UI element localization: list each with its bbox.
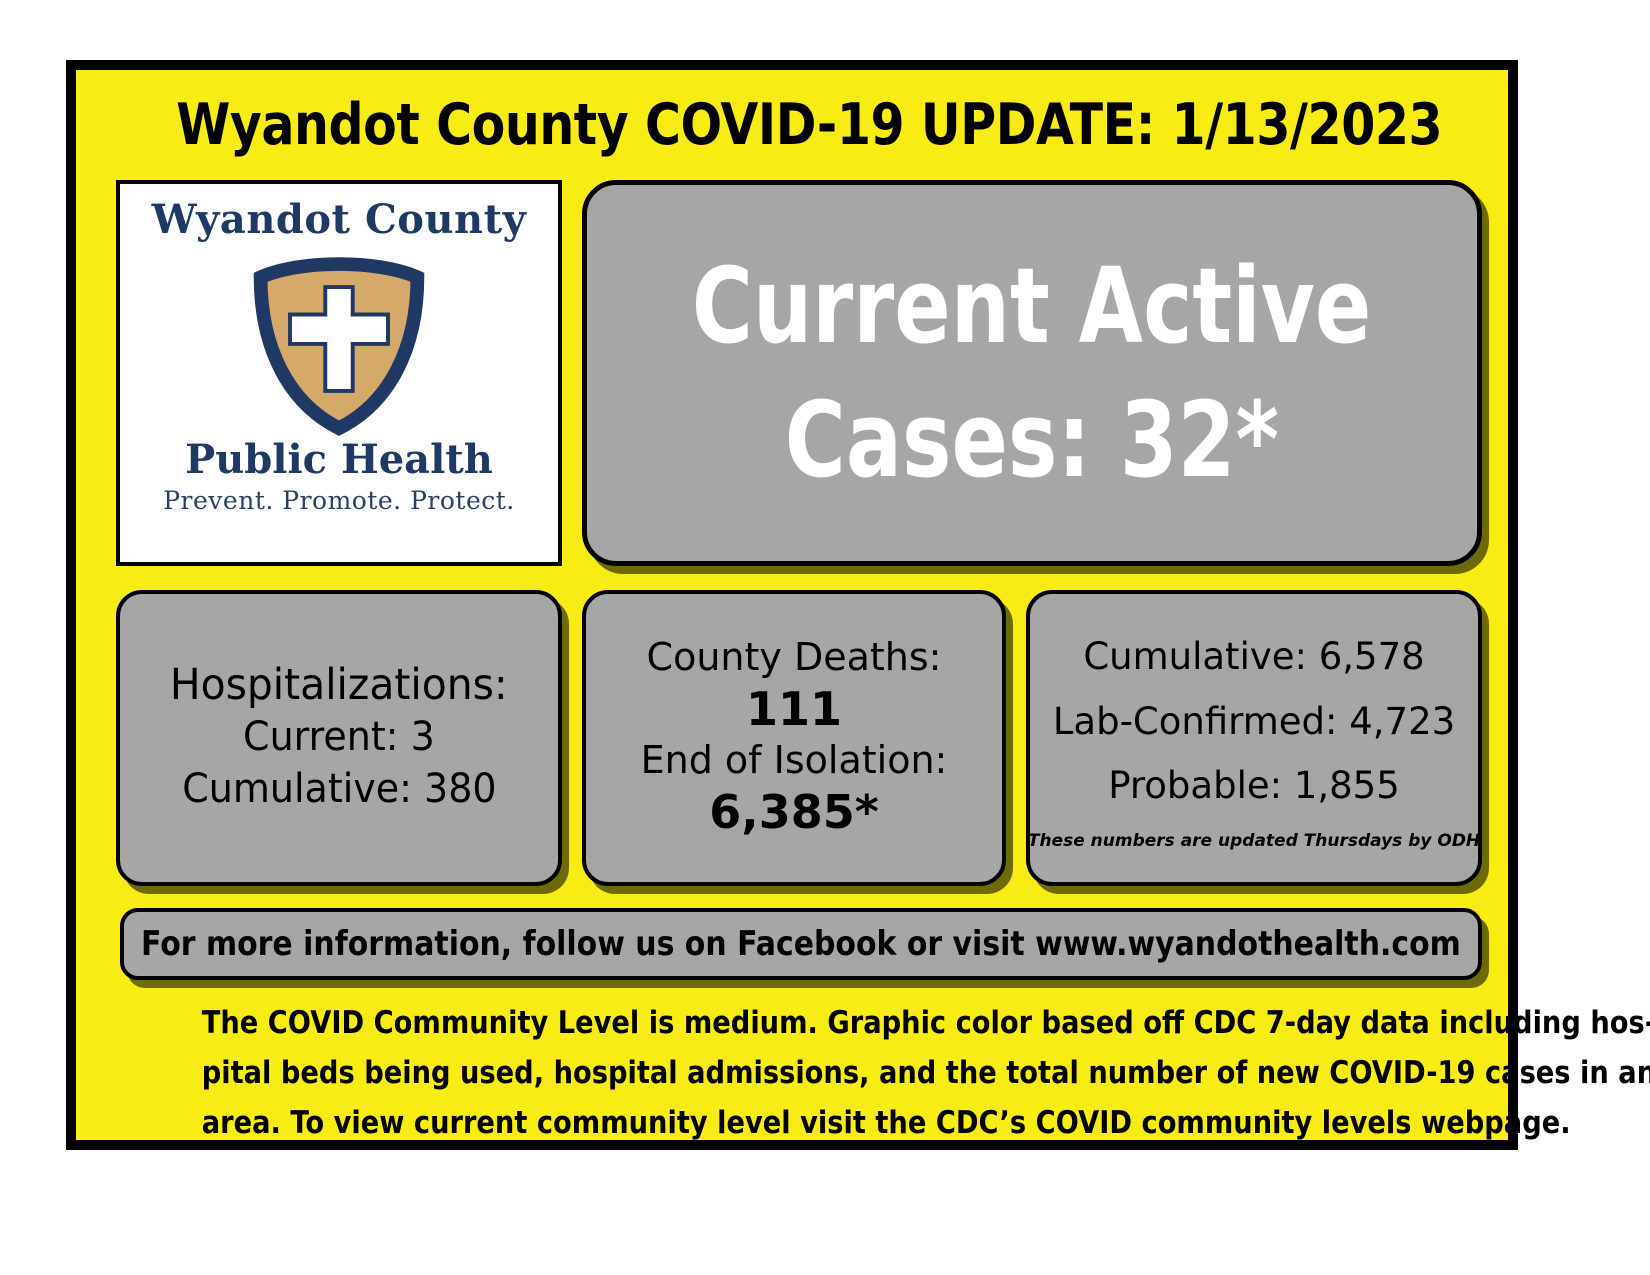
active-cases-value: Cases: 32* <box>785 382 1279 498</box>
hospitalizations-heading: Hospitalizations: <box>170 661 508 710</box>
contact-info-text: For more information, follow us on Faceb… <box>141 924 1461 964</box>
agency-logo-panel: Wyandot County Public Health Prevent. Pr… <box>116 180 562 566</box>
logo-top-text: Wyandot County <box>152 200 527 240</box>
contact-info-bar: For more information, follow us on Faceb… <box>120 908 1482 980</box>
footnote-line-2: pital beds being used, hospital admissio… <box>202 1048 1401 1098</box>
page-title: Wyandot County COVID-19 UPDATE: 1/13/202… <box>176 96 1408 156</box>
logo-tagline: Prevent. Promote. Protect. <box>163 488 515 513</box>
lab-confirmed-total: Lab-Confirmed: 4,723 <box>1053 690 1455 755</box>
county-deaths-heading: County Deaths: <box>647 635 942 681</box>
end-of-isolation-value: 6,385* <box>709 784 879 842</box>
county-deaths-value: 111 <box>746 681 842 739</box>
hospitalizations-cumulative: Cumulative: 380 <box>182 763 496 815</box>
footnote-line-3: area. To view current community level vi… <box>202 1098 1401 1148</box>
odh-update-note: These numbers are updated Thursdays by O… <box>1028 831 1480 851</box>
covid-update-poster: Wyandot County COVID-19 UPDATE: 1/13/202… <box>66 60 1518 1150</box>
hospitalizations-current: Current: 3 <box>243 711 435 763</box>
probable-total: Probable: 1,855 <box>1108 754 1400 819</box>
cumulative-total: Cumulative: 6,578 <box>1083 625 1424 690</box>
end-of-isolation-heading: End of Isolation: <box>641 738 948 784</box>
community-level-footnote: The COVID Community Level is medium. Gra… <box>202 998 1401 1149</box>
active-cases-card: Current Active Cases: 32* <box>582 180 1482 566</box>
cumulative-totals-card: Cumulative: 6,578 Lab-Confirmed: 4,723 P… <box>1026 590 1482 886</box>
active-cases-label: Current Active <box>692 248 1371 364</box>
hospitalizations-card: Hospitalizations: Current: 3 Cumulative:… <box>116 590 562 886</box>
footnote-line-1: The COVID Community Level is medium. Gra… <box>202 998 1401 1048</box>
county-deaths-card: County Deaths: 111 End of Isolation: 6,3… <box>582 590 1006 886</box>
logo-bottom-text: Public Health <box>185 440 493 480</box>
shield-cross-icon <box>241 242 437 438</box>
